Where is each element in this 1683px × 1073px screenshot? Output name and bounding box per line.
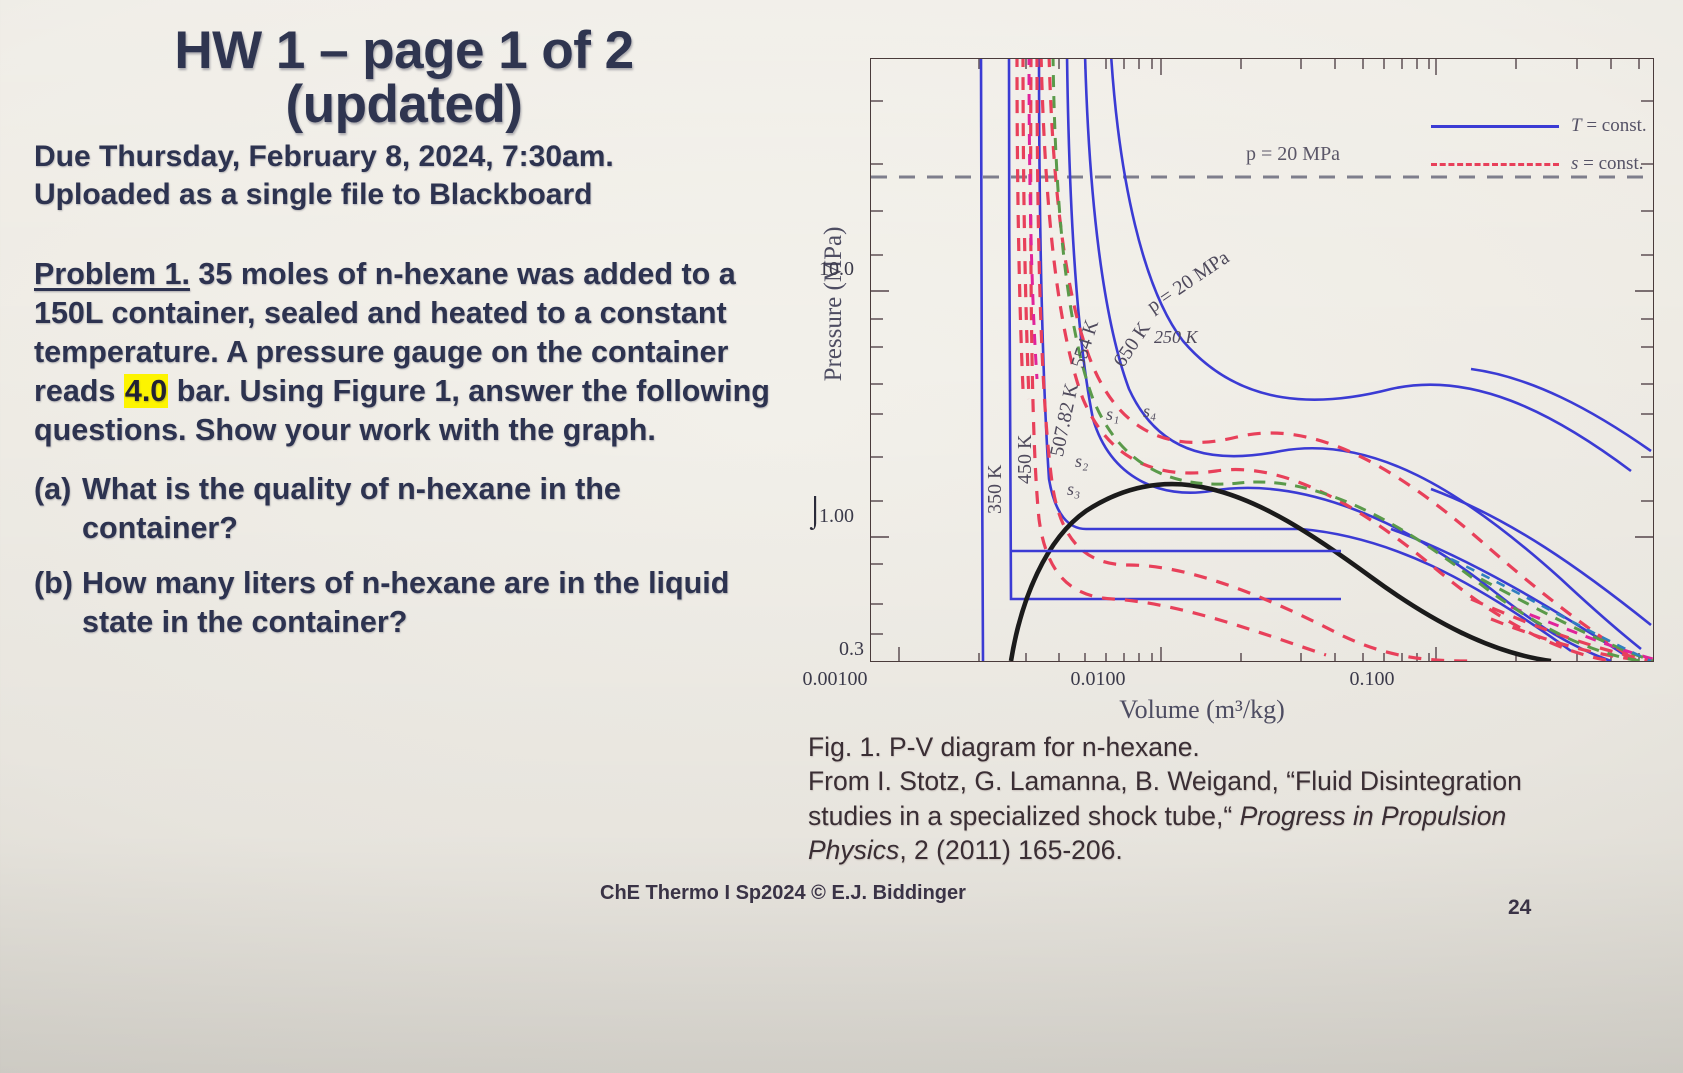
isentrope-label-s1: 250 K: [1154, 327, 1198, 348]
caption-line-4: Physics, 2 (2011) 165-206.: [808, 833, 1683, 867]
problem-statement: Problem 1. 35 moles of n-hexane was adde…: [34, 255, 774, 450]
x-tick-label-01: 0.100: [1312, 668, 1432, 691]
isentrope-label-s4: s₃: [1067, 479, 1080, 500]
due-info: Due Thursday, February 8, 2024, 7:30am. …: [34, 138, 774, 215]
pressure-value-highlight: 4.0: [124, 374, 168, 408]
chart-plot-area: T = const. s = const. p = 20 MPa 350 K 4…: [870, 58, 1654, 662]
y-tick-label-10: 10.0: [784, 258, 854, 281]
page-title-line-2: (updated): [34, 78, 774, 132]
problem-label: Problem 1.: [34, 257, 190, 291]
question-b-text: How many liters of n-hexane are in the l…: [82, 564, 774, 642]
chart-y-axis-label: Pressure (MPa): [820, 184, 848, 424]
isentrope-label-slimit: s₄: [1143, 401, 1156, 427]
caption-line-1: Fig. 1. P-V diagram for n-hexane.: [808, 730, 1683, 764]
annotation-p-20mpa: p = 20 MPa: [1246, 143, 1340, 166]
legend-dashed-line-swatch: [1431, 163, 1559, 166]
due-date-line: Due Thursday, February 8, 2024, 7:30am.: [34, 138, 774, 176]
slide-page-number: 24: [1508, 896, 1531, 920]
legend-label-t-const: T = const.: [1571, 115, 1647, 137]
isentrope-label-s3: s₂: [1075, 451, 1088, 472]
y-tick-label-03: 0.3: [794, 638, 864, 661]
legend-label-s-const: s = const.: [1571, 153, 1643, 175]
question-b-label: (b): [34, 564, 82, 603]
isotherm-label-350k: 450 K: [1014, 435, 1037, 484]
chart-legend: T = const. s = const.: [1431, 107, 1647, 183]
question-a-text: What is the quality of n-hexane in the c…: [82, 470, 774, 548]
question-item-b: (b) How many liters of n-hexane are in t…: [34, 564, 774, 642]
legend-solid-line-swatch: [1431, 125, 1559, 128]
slide-footer: ChE Thermo I Sp2024 © E.J. Biddinger: [600, 882, 966, 905]
question-list: (a) What is the quality of n-hexane in t…: [34, 470, 774, 642]
chart-x-axis-label: Volume (m³/kg): [992, 695, 1412, 725]
slide-text-column: HW 1 – page 1 of 2 (updated) Due Thursda…: [34, 24, 774, 642]
text-cursor-ibeam: ⌡: [806, 495, 824, 529]
page-title: HW 1 – page 1 of 2 (updated): [34, 24, 774, 132]
figure-caption: Fig. 1. P-V diagram for n-hexane. From I…: [808, 730, 1683, 868]
isentrope-label-s2: s₁: [1106, 404, 1119, 425]
x-tick-label-001: 0.0100: [1038, 668, 1158, 691]
legend-entry-s-const: s = const.: [1431, 145, 1647, 183]
question-item-a: (a) What is the quality of n-hexane in t…: [34, 470, 774, 548]
x-tick-label-0001: 0.00100: [775, 668, 895, 691]
caption-line-2: From I. Stotz, G. Lamanna, B. Weigand, “…: [808, 764, 1683, 798]
isotherm-label-250k: 350 K: [984, 465, 1007, 514]
upload-instruction-line: Uploaded as a single file to Blackboard: [34, 176, 774, 214]
page-title-line-1: HW 1 – page 1 of 2: [174, 21, 633, 80]
pv-diagram-figure: Pressure (MPa) Volume (m³/kg) 10.0 1.00 …: [782, 40, 1662, 730]
caption-line-3: studies in a specialized shock tube,“ Pr…: [808, 799, 1683, 833]
question-a-label: (a): [34, 470, 82, 509]
legend-entry-t-const: T = const.: [1431, 107, 1647, 145]
